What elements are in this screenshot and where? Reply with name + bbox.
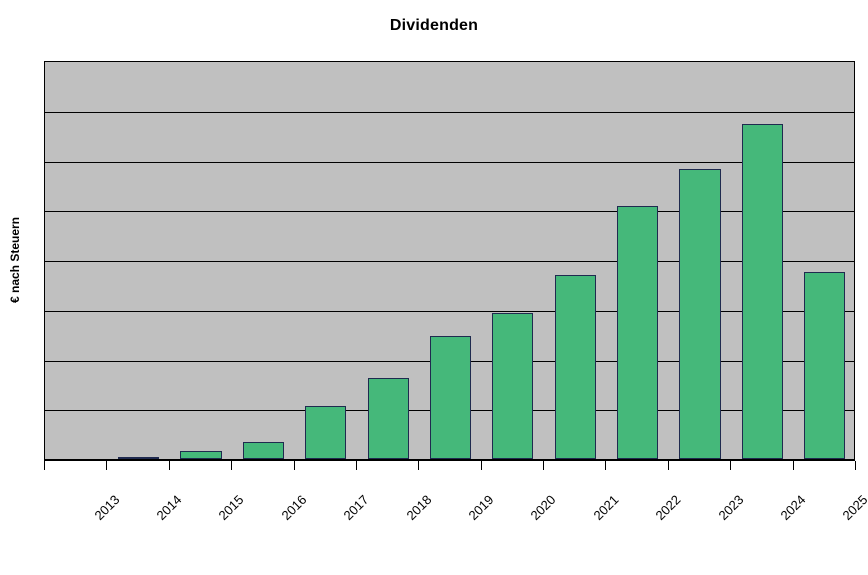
x-axis-label: 2015 (216, 492, 247, 523)
x-axis-tick (481, 461, 482, 470)
x-axis-tick (543, 461, 544, 470)
bar[interactable] (492, 313, 533, 459)
x-axis-tick (605, 461, 606, 470)
bar[interactable] (368, 378, 409, 459)
x-axis-tick (169, 461, 170, 470)
bar-series (45, 62, 854, 459)
bar-slot (544, 62, 606, 459)
bar-slot (107, 62, 169, 459)
bar[interactable] (679, 169, 720, 459)
bar[interactable] (180, 451, 221, 459)
x-axis-tick (855, 461, 856, 470)
x-axis-label: 2023 (715, 492, 746, 523)
x-axis-tick (44, 461, 45, 470)
bar[interactable] (804, 272, 845, 459)
x-axis-label: 2017 (341, 492, 372, 523)
bar[interactable] (742, 124, 783, 459)
bar-slot (170, 62, 232, 459)
bar[interactable] (430, 336, 471, 459)
bar-slot (232, 62, 294, 459)
bar-slot (794, 62, 856, 459)
x-axis-label: 2024 (777, 492, 808, 523)
x-axis-label: 2016 (278, 492, 309, 523)
bar-slot (419, 62, 481, 459)
x-axis-label: 2025 (840, 492, 868, 523)
x-axis-tick (356, 461, 357, 470)
x-axis-label: 2018 (403, 492, 434, 523)
x-axis-label: 2021 (590, 492, 621, 523)
x-axis-line (44, 459, 855, 461)
x-axis-label: 2013 (91, 492, 122, 523)
bar-slot (295, 62, 357, 459)
bar-slot (357, 62, 419, 459)
bar[interactable] (617, 206, 658, 459)
x-axis-tick (231, 461, 232, 470)
bar[interactable] (555, 275, 596, 459)
bar-slot (482, 62, 544, 459)
x-axis-tick (730, 461, 731, 470)
bar-slot (606, 62, 668, 459)
x-axis-label: 2022 (653, 492, 684, 523)
bar-slot (45, 62, 107, 459)
x-axis-labels: 2013201420152016201720182019202020212022… (44, 474, 855, 564)
x-axis-tick (106, 461, 107, 470)
y-axis-title: € nach Steuern (8, 217, 22, 303)
plot-area (44, 61, 855, 459)
y-axis-title-container: € nach Steuern (4, 61, 26, 459)
chart-title: Dividenden (0, 16, 868, 36)
x-axis-tick (418, 461, 419, 470)
x-axis-tick (294, 461, 295, 470)
bar[interactable] (305, 406, 346, 459)
x-axis-tick (668, 461, 669, 470)
bar[interactable] (243, 442, 284, 459)
bar-slot (669, 62, 731, 459)
x-axis-tick (793, 461, 794, 470)
x-axis-label: 2014 (154, 492, 185, 523)
chart-container: Dividenden € nach Steuern 20132014201520… (0, 0, 868, 575)
x-axis-label: 2020 (528, 492, 559, 523)
x-axis-label: 2019 (465, 492, 496, 523)
bar-slot (731, 62, 793, 459)
